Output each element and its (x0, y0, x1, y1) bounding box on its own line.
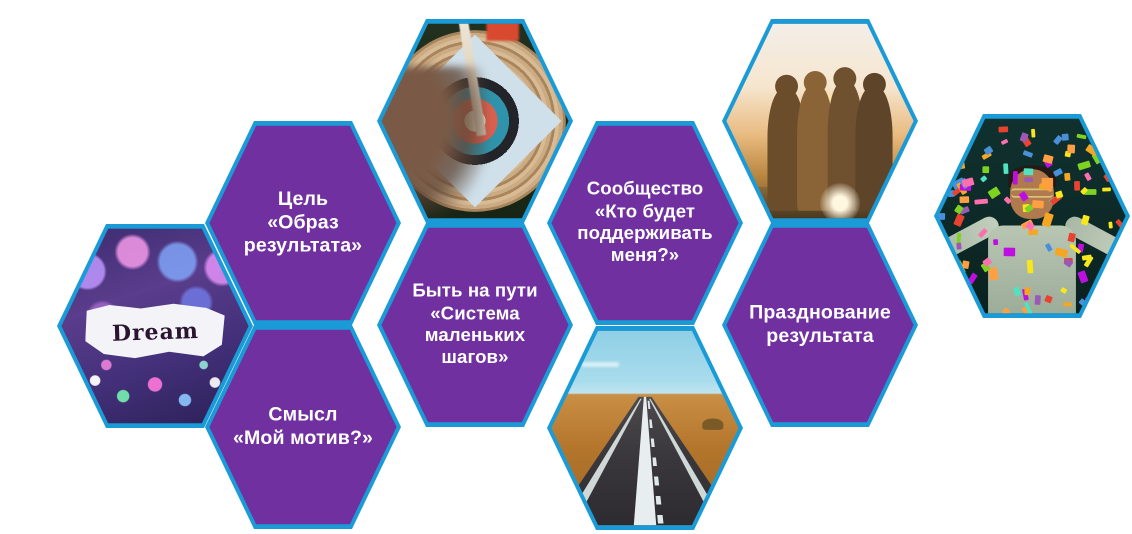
hex-cell-target[interactable] (377, 19, 573, 223)
confetti-celebration-image (938, 119, 1125, 314)
hex-inner-path: Быть на пути «Система маленьких шагов» (381, 228, 568, 423)
desert-road-image (551, 331, 738, 526)
hex-inner-community: Сообщество «Кто будет поддерживать меня?… (551, 126, 738, 321)
hex-cell-road[interactable] (547, 326, 743, 530)
hex-label-celebration: Празднование результата (736, 302, 904, 349)
person-silhouette (856, 88, 893, 211)
hexagon-infographic: Dream Цель «Образ результата» Смысл «Мой… (0, 0, 1132, 534)
hex-label-community: Сообщество «Кто будет поддерживать меня?… (564, 178, 726, 267)
confetti-particles (938, 119, 1125, 314)
hex-cell-path[interactable]: Быть на пути «Система маленьких шагов» (377, 223, 573, 427)
hex-inner-celebration: Празднование результата (726, 228, 913, 423)
hex-inner-friends (726, 24, 913, 219)
dream-note-bokeh-image: Dream (61, 229, 248, 424)
hex-label-goal: Цель «Образ результата» (230, 188, 375, 258)
hex-inner-meaning: Смысл «Мой мотив?» (209, 330, 396, 525)
bush (703, 418, 724, 429)
dream-paper-note: Dream (84, 303, 226, 361)
red-flag (486, 24, 518, 41)
hex-cell-confetti[interactable] (934, 114, 1130, 318)
hex-inner-confetti (938, 119, 1125, 314)
sun-flare (820, 183, 860, 218)
dream-note-text: Dream (111, 317, 199, 346)
friends-sunset-image (726, 24, 913, 219)
hex-inner-target (381, 24, 568, 219)
hex-inner-road (551, 331, 738, 526)
hex-inner-goal: Цель «Образ результата» (209, 126, 396, 321)
cloud (581, 362, 619, 367)
hex-cell-community[interactable]: Сообщество «Кто будет поддерживать меня?… (547, 121, 743, 325)
archery-target-rope-image (381, 24, 568, 219)
hex-cell-celebration[interactable]: Празднование результата (722, 223, 918, 427)
archer-silhouette (381, 66, 486, 218)
hex-inner-dream: Dream (61, 229, 248, 424)
hex-cell-friends[interactable] (722, 19, 918, 223)
hex-label-path: Быть на пути «Система маленьких шагов» (399, 280, 551, 369)
hex-label-meaning: Смысл «Мой мотив?» (220, 404, 387, 451)
